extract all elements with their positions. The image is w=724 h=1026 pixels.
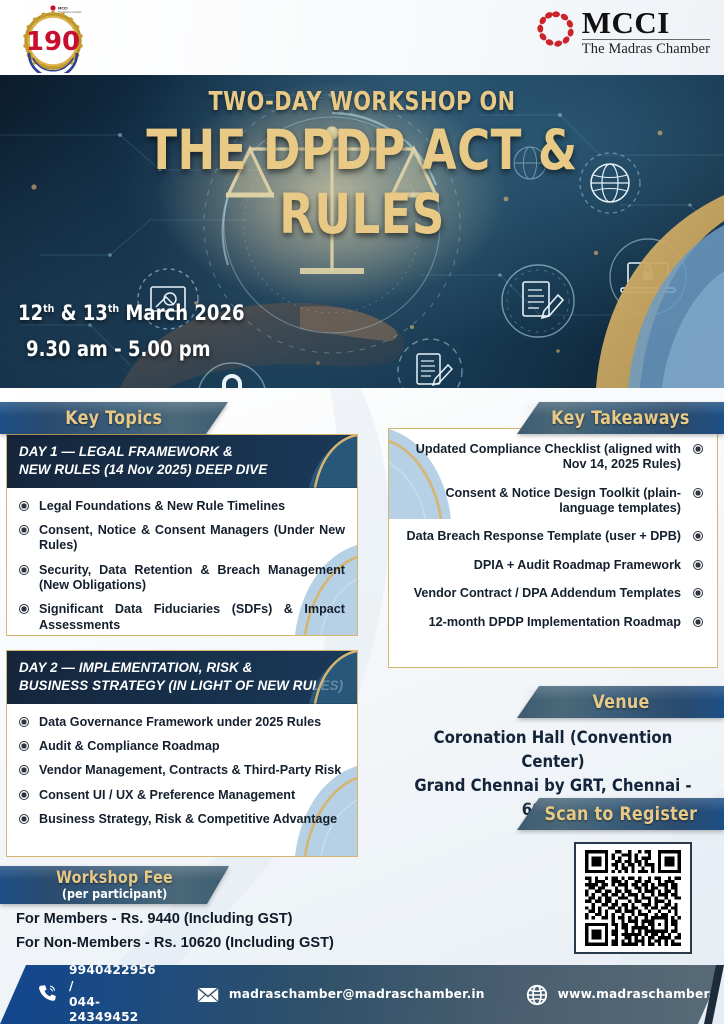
list-item: Consent & Notice Design Toolkit (plain-l…: [401, 486, 703, 517]
list-item: Security, Data Retention & Breach Manage…: [19, 563, 345, 594]
footer-website[interactable]: www.madraschamber.in: [525, 983, 724, 1007]
day2-heading: DAY 2 — IMPLEMENTATION, RISK & BUSINESS …: [7, 651, 357, 704]
ribbon-key-topics: Key Topics: [0, 402, 228, 434]
card-key-takeaways: Updated Compliance Checklist (aligned wi…: [388, 428, 718, 668]
list-item: Consent UI / UX & Preference Management: [19, 788, 345, 803]
list-item-label: Vendor Contract / DPA Addendum Templates: [414, 586, 681, 600]
card-day1: DAY 1 — LEGAL FRAMEWORK & NEW RULES (14 …: [6, 434, 358, 636]
takeaway-list: Updated Compliance Checklist (aligned wi…: [389, 429, 717, 640]
ribbon-venue: Venue: [517, 686, 724, 718]
event-date: 12th & 13th March 2026: [18, 301, 245, 325]
date-day1: 12: [18, 301, 43, 325]
footer-phone[interactable]: 9940422956 / 044-24349452: [36, 963, 156, 1026]
list-item: Data Breach Response Template (user + DP…: [401, 529, 703, 544]
date-sup-2: th: [108, 302, 119, 315]
bullet-icon: [693, 531, 703, 541]
list-item-label: Consent, Notice & Consent Managers (Unde…: [39, 523, 345, 552]
day-heading-corner-deco: [297, 651, 357, 704]
ribbon-workshop-fee: Workshop Fee (per participant): [0, 866, 229, 904]
list-item: Audit & Compliance Roadmap: [19, 739, 345, 754]
list-item-label: Updated Compliance Checklist (aligned wi…: [416, 442, 681, 471]
bullet-icon: [693, 560, 703, 570]
list-item-label: Consent UI / UX & Preference Management: [39, 788, 295, 802]
bullet-icon: [19, 717, 29, 727]
card-day2: DAY 2 — IMPLEMENTATION, RISK & BUSINESS …: [6, 650, 358, 857]
fee-non-members: For Non-Members - Rs. 10620 (Including G…: [16, 932, 376, 956]
list-item-label: Vendor Management, Contracts & Third-Par…: [39, 763, 341, 777]
list-item: Consent, Notice & Consent Managers (Unde…: [19, 523, 345, 554]
list-item: Legal Foundations & New Rule Timelines: [19, 499, 345, 514]
list-item: Significant Data Fiduciaries (SDFs) & Im…: [19, 602, 345, 633]
list-item: Vendor Contract / DPA Addendum Templates: [401, 586, 703, 601]
footer-phone-text: 9940422956 / 044-24349452: [69, 963, 156, 1026]
ribbon-key-topics-label: Key Topics: [66, 407, 163, 429]
list-item: Business Strategy, Risk & Competitive Ad…: [19, 812, 345, 827]
list-item-label: Security, Data Retention & Breach Manage…: [39, 563, 345, 592]
ribbon-scan-to-register: Scan to Register: [517, 798, 724, 830]
footer-email[interactable]: madraschamber@madraschamber.in: [196, 983, 485, 1007]
bullet-icon: [19, 525, 29, 535]
list-item: DPIA + Audit Roadmap Framework: [401, 558, 703, 573]
ribbon-fee-label: Workshop Fee: [56, 870, 173, 887]
day2-topic-list: Data Governance Framework under 2025 Rul…: [7, 704, 357, 840]
ribbon-scan-label: Scan to Register: [544, 803, 697, 825]
bullet-icon: [19, 765, 29, 775]
date-month-year: March 2026: [119, 301, 244, 325]
list-item-label: Legal Foundations & New Rule Timelines: [39, 499, 285, 513]
hero-title-block: TWO-DAY WORKSHOP ON THE DPDP ACT & RULES: [0, 87, 724, 246]
footer-email-text: madraschamber@madraschamber.in: [229, 987, 485, 1003]
mcci-logo: MCCI The Madras Chamber: [537, 8, 710, 60]
bullet-icon: [693, 488, 703, 498]
header-bar: MCCI The Madras Chamber: [0, 0, 724, 75]
list-item-label: DPIA + Audit Roadmap Framework: [474, 558, 681, 572]
bullet-icon: [19, 790, 29, 800]
day1-heading: DAY 1 — LEGAL FRAMEWORK & NEW RULES (14 …: [7, 435, 357, 488]
bullet-icon: [19, 501, 29, 511]
bullet-icon: [693, 444, 703, 454]
list-item: Data Governance Framework under 2025 Rul…: [19, 715, 345, 730]
qr-code-icon[interactable]: [582, 850, 684, 946]
ribbon-key-takeaways: Key Takeaways: [517, 402, 724, 434]
list-item-label: Business Strategy, Risk & Competitive Ad…: [39, 812, 337, 826]
list-item-label: Significant Data Fiduciaries (SDFs) & Im…: [39, 602, 345, 631]
ribbon-key-takeaways-label: Key Takeaways: [551, 407, 689, 429]
bullet-icon: [19, 741, 29, 751]
list-item: Vendor Management, Contracts & Third-Par…: [19, 763, 345, 778]
phone-icon: [36, 983, 60, 1007]
fee-details: For Members - Rs. 9440 (Including GST) F…: [16, 908, 376, 955]
qr-code[interactable]: [574, 842, 692, 954]
bullet-icon: [693, 588, 703, 598]
list-item: Updated Compliance Checklist (aligned wi…: [401, 442, 703, 473]
list-item-label: Data Breach Response Template (user + DP…: [407, 529, 681, 543]
date-sup-1: th: [43, 302, 54, 315]
list-item-label: Data Governance Framework under 2025 Rul…: [39, 715, 321, 729]
date-separator: & 13: [54, 301, 107, 325]
anniversary-number: 190: [26, 27, 80, 57]
bullet-icon: [693, 617, 703, 627]
anniversary-190-logo: MCCI The Madras Chamber: [14, 1, 92, 73]
hero-eyebrow: TWO-DAY WORKSHOP ON: [72, 87, 651, 117]
day-heading-corner-deco: [297, 435, 357, 488]
bullet-icon: [19, 604, 29, 614]
footer-website-text: www.madraschamber.in: [558, 987, 724, 1003]
footer-contact-bar: 9940422956 / 044-24349452 madraschamber@…: [0, 965, 724, 1024]
mcci-ring-icon: [537, 10, 575, 48]
venue-line1: Coronation Hall (Convention Center): [408, 726, 698, 774]
mcci-tagline: The Madras Chamber: [582, 39, 710, 58]
mcci-wordmark: MCCI: [582, 8, 710, 37]
list-item: 12-month DPDP Implementation Roadmap: [401, 615, 703, 630]
hero-banner: TWO-DAY WORKSHOP ON THE DPDP ACT & RULES…: [0, 75, 724, 388]
event-time: 9.30 am - 5.00 pm: [26, 337, 211, 361]
hero-title: THE DPDP ACT & RULES: [65, 118, 659, 246]
ribbon-fee-sublabel: (per participant): [62, 887, 167, 901]
envelope-icon: [196, 983, 220, 1007]
fee-members: For Members - Rs. 9440 (Including GST): [16, 908, 376, 932]
globe-icon: [525, 983, 549, 1007]
bullet-icon: [19, 814, 29, 824]
list-item-label: Audit & Compliance Roadmap: [39, 739, 220, 753]
ribbon-venue-label: Venue: [592, 691, 649, 713]
svg-text:MCCI: MCCI: [58, 6, 68, 10]
day1-topic-list: Legal Foundations & New Rule Timelines C…: [7, 488, 357, 636]
bullet-icon: [19, 565, 29, 575]
list-item-label: 12-month DPDP Implementation Roadmap: [429, 615, 681, 629]
list-item-label: Consent & Notice Design Toolkit (plain-l…: [445, 486, 681, 515]
